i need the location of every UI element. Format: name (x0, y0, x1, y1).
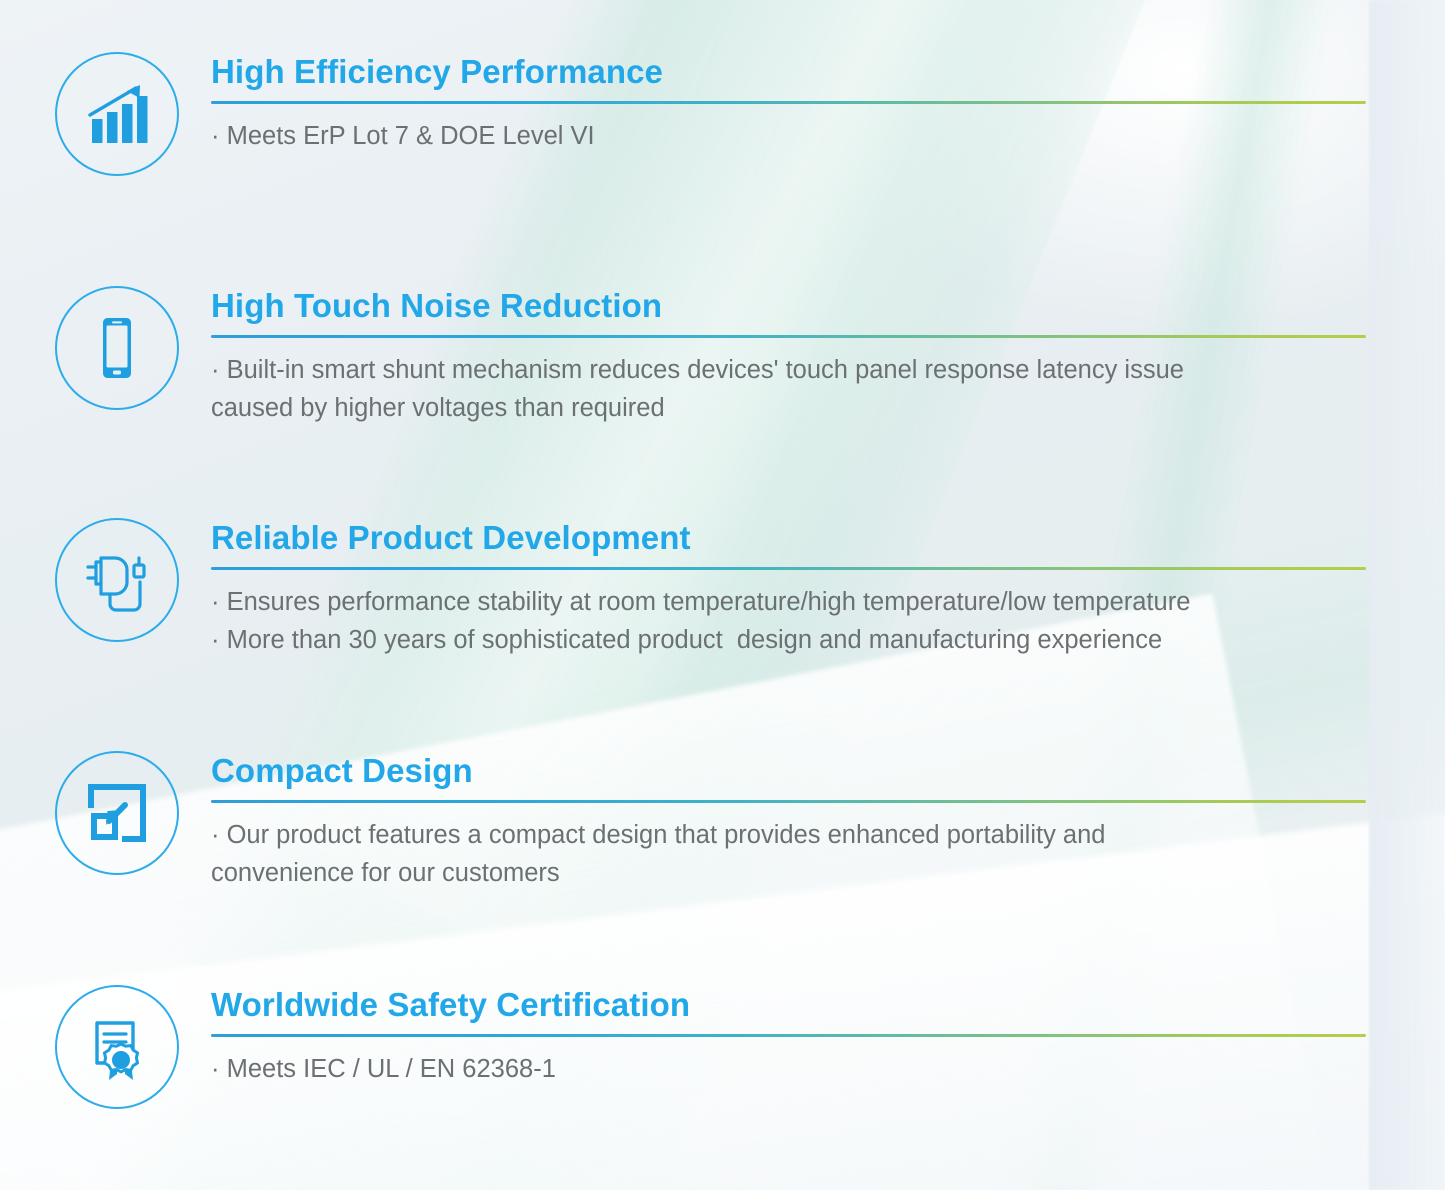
smartphone-icon (55, 286, 179, 410)
feature-divider (211, 567, 1366, 570)
bullet-text: Ensures performance stability at room te… (227, 588, 1191, 616)
bullet-text: Built-in smart shunt mechanism reduces d… (211, 356, 1184, 422)
feature-bullets: · Meets IEC / UL / EN 62368-1 (211, 1050, 1366, 1088)
feature-body: Compact Design · Our product features a … (211, 751, 1366, 892)
certificate-award-icon (55, 985, 179, 1109)
feature-bullets: · Our product features a compact design … (211, 816, 1366, 892)
bullet-marker: · (211, 821, 220, 849)
feature-title: High Touch Noise Reduction (211, 286, 1366, 326)
feature-bullet: · Meets ErP Lot 7 & DOE Level VI (211, 117, 1366, 155)
feature-body: High Efficiency Performance · Meets ErP … (211, 52, 1366, 155)
bullet-marker: · (211, 1055, 220, 1083)
feature-body: Reliable Product Development · Ensures p… (211, 518, 1366, 659)
bar-chart-growth-icon (55, 52, 179, 176)
feature-body: High Touch Noise Reduction · Built-in sm… (211, 286, 1366, 427)
feature-title: Compact Design (211, 751, 1366, 791)
feature-title: Reliable Product Development (211, 518, 1366, 558)
feature-divider (211, 335, 1366, 338)
bullet-marker: · (211, 356, 220, 384)
bullet-text: More than 30 years of sophisticated prod… (227, 626, 1163, 654)
feature-highlights-page: High Efficiency Performance · Meets ErP … (0, 0, 1445, 1190)
feature-title: High Efficiency Performance (211, 52, 1366, 92)
bullet-text: Our product features a compact design th… (211, 821, 1105, 887)
feature-list: High Efficiency Performance · Meets ErP … (0, 0, 1445, 1190)
feature-bullet: · Meets IEC / UL / EN 62368-1 (211, 1050, 1366, 1088)
feature-body: Worldwide Safety Certification · Meets I… (211, 985, 1366, 1088)
feature-bullets: · Meets ErP Lot 7 & DOE Level VI (211, 117, 1366, 155)
feature-bullet: · Our product features a compact design … (211, 816, 1366, 892)
feature-bullet: · More than 30 years of sophisticated pr… (211, 621, 1366, 659)
compact-resize-icon (55, 751, 179, 875)
feature-divider (211, 1034, 1366, 1037)
feature-bullets: · Built-in smart shunt mechanism reduces… (211, 351, 1366, 427)
feature-bullets: · Ensures performance stability at room … (211, 583, 1366, 659)
bullet-text: Meets IEC / UL / EN 62368-1 (227, 1055, 556, 1083)
feature-bullet: · Ensures performance stability at room … (211, 583, 1366, 621)
bullet-text: Meets ErP Lot 7 & DOE Level VI (227, 122, 595, 150)
bullet-marker: · (211, 626, 220, 654)
feature-bullet: · Built-in smart shunt mechanism reduces… (211, 351, 1366, 427)
bullet-marker: · (211, 588, 220, 616)
feature-divider (211, 800, 1366, 803)
feature-title: Worldwide Safety Certification (211, 985, 1366, 1025)
bullet-marker: · (211, 122, 220, 150)
feature-divider (211, 101, 1366, 104)
power-adapter-icon (55, 518, 179, 642)
